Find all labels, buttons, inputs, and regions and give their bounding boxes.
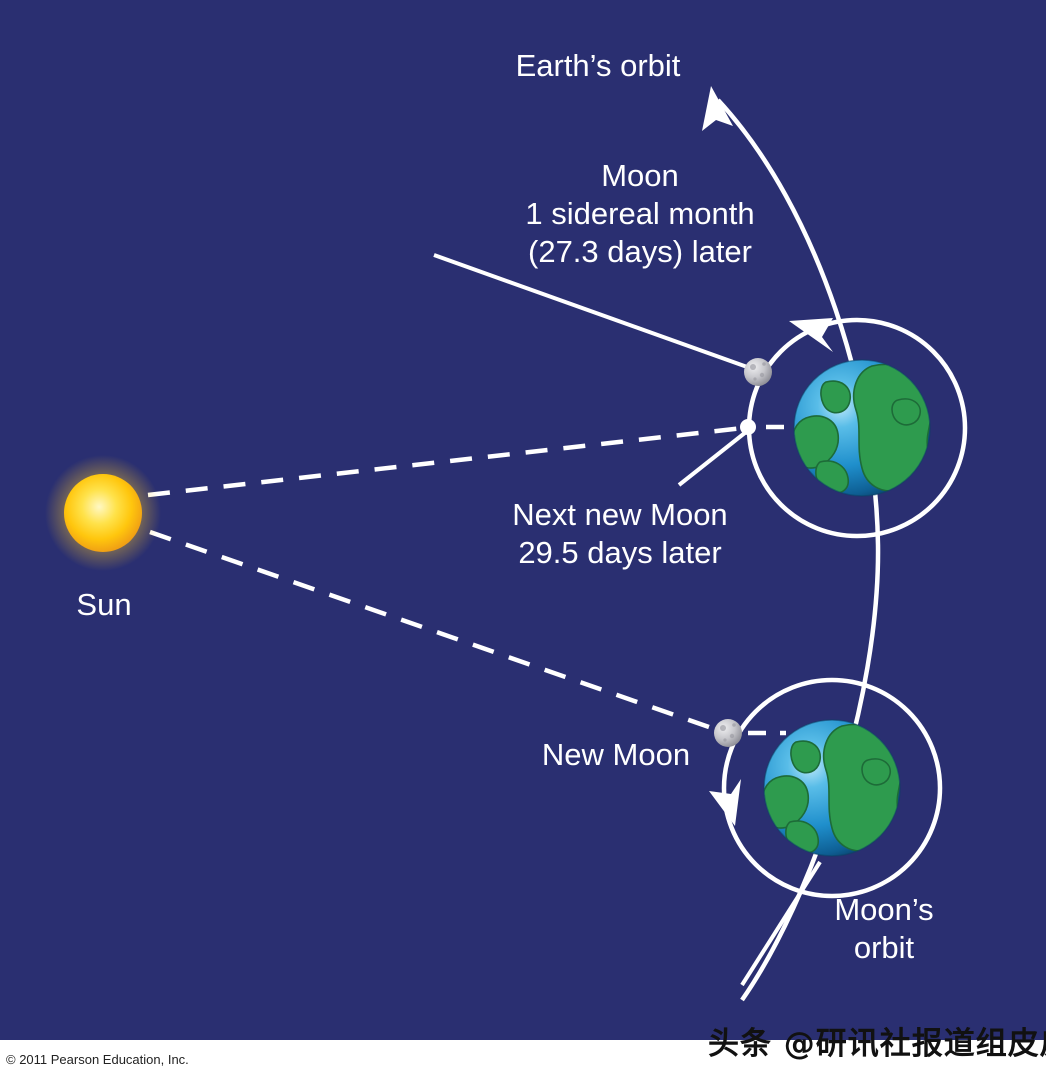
label-sun: Sun [76, 587, 131, 622]
label-moons-orbit-line1: Moon’s [834, 892, 933, 927]
label-earth-orbit: Earth’s orbit [516, 48, 681, 83]
astronomy-diagram: Earth’s orbit Moon 1 sidereal month (27.… [0, 0, 1046, 1040]
moon-new-position [714, 719, 742, 747]
leader-line-sidereal-moon [434, 255, 750, 368]
moon-sidereal-position [744, 358, 772, 386]
label-next-new-moon-line2: 29.5 days later [518, 535, 721, 570]
label-moon-sidereal-line3: (27.3 days) later [528, 234, 752, 269]
sun-glyph [45, 455, 161, 571]
leader-line-moons-orbit [742, 862, 820, 985]
label-moon-sidereal-line2: 1 sidereal month [525, 196, 754, 231]
copyright-text: © 2011 Pearson Education, Inc. [6, 1052, 189, 1067]
moon-orbit-upper-arrowhead [789, 318, 833, 352]
label-moons-orbit-line2: orbit [854, 930, 915, 965]
sun-ray-upper-dashed [148, 427, 752, 495]
leader-line-next-new-moon [679, 432, 746, 485]
earth-upper [792, 360, 932, 496]
label-next-new-moon-line1: Next new Moon [512, 497, 727, 532]
figure-root: Earth’s orbit Moon 1 sidereal month (27.… [0, 0, 1046, 1080]
label-moon-sidereal-line1: Moon [601, 158, 679, 193]
label-new-moon: New Moon [542, 737, 690, 772]
next-new-moon-marker [740, 419, 756, 435]
watermark-text: 头条 @研讯社报道组皮皮 [708, 1018, 1046, 1063]
earth-lower [762, 720, 902, 856]
